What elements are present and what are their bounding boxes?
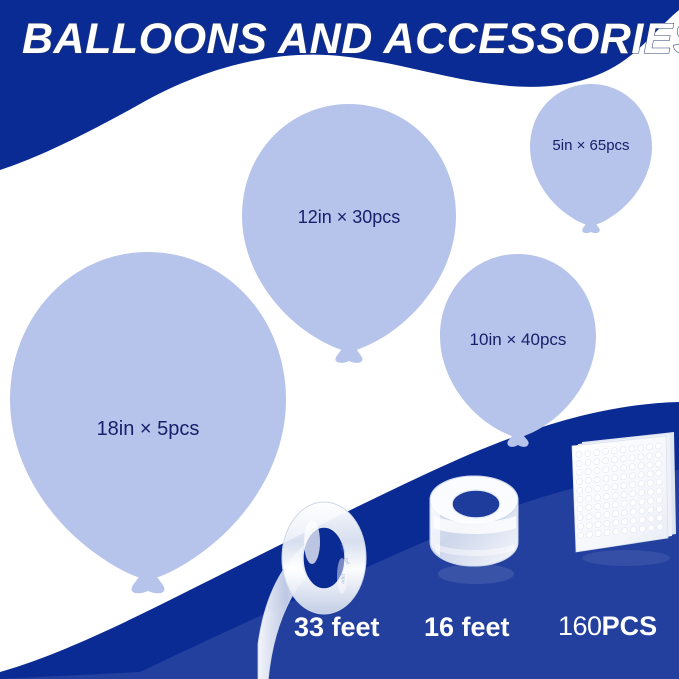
balloon-5in-label: 5in × 65pcs — [528, 137, 654, 154]
glue-dot-unit: PCS — [602, 611, 658, 641]
balloon-10in-label: 10in × 40pcs — [438, 330, 598, 350]
balloon-18in-label: 18in × 5pcs — [8, 418, 288, 441]
balloon-shape — [438, 252, 598, 448]
ribbon-tape-roll-art: tape roll tape — [262, 492, 382, 679]
balloon-5in: 5in × 65pcs — [528, 82, 654, 234]
balloon-shape — [240, 102, 458, 364]
glue-dot-sheet — [556, 430, 679, 570]
svg-text:tape: tape — [340, 574, 346, 584]
glue-dot-count: 160 — [558, 611, 602, 641]
balloon-tape-strip-art — [418, 470, 536, 588]
svg-text:roll: roll — [343, 557, 350, 565]
ribbon-tape-roll: tape roll tape — [262, 492, 382, 679]
ribbon-tape-roll-label: 33 feet — [294, 612, 380, 643]
balloon-10in: 10in × 40pcs — [438, 252, 598, 448]
balloon-12in: 12in × 30pcs — [240, 102, 458, 364]
balloon-tape-strip-roll — [418, 470, 536, 588]
balloon-tape-strip-label: 16 feet — [424, 612, 510, 643]
balloon-shape — [528, 82, 654, 234]
glue-dot-sheet-art — [556, 430, 679, 570]
page-title: BALLOONS AND ACCESSORIES — [22, 18, 679, 61]
glue-dot-sheet-label: 160PCS — [558, 611, 657, 642]
product-infographic: BALLOONS AND ACCESSORIES 18in × 5pcs 12i… — [0, 0, 679, 679]
balloon-12in-label: 12in × 30pcs — [240, 207, 458, 228]
